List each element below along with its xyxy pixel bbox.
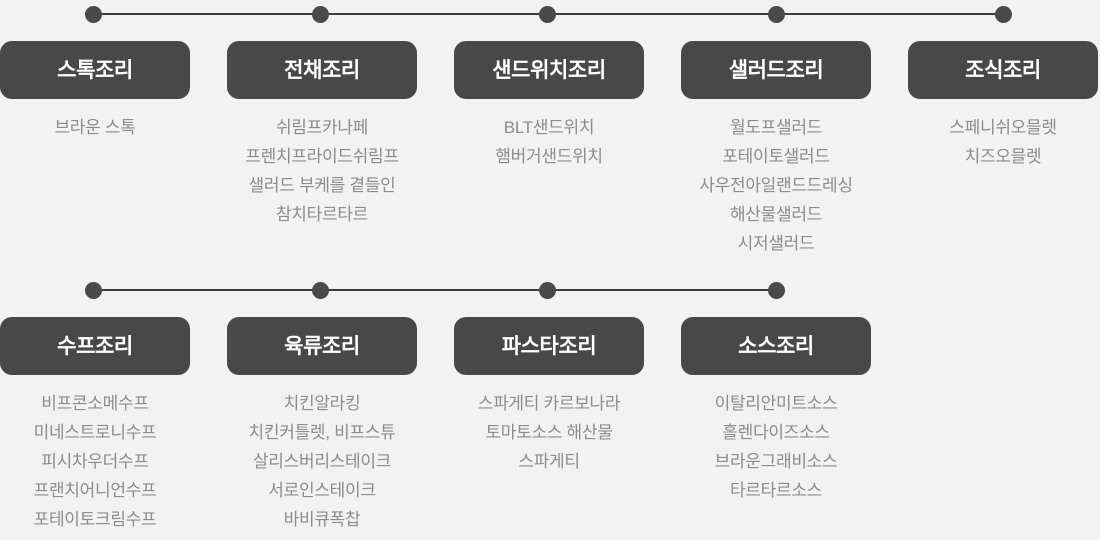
course-item: 살리스버리스테이크 [207, 447, 437, 476]
bottom-row-timeline [0, 276, 1100, 306]
course-item: 서로인스테이크 [207, 476, 437, 505]
top-row-timeline [0, 0, 1100, 30]
timeline-node-dot [768, 6, 785, 23]
course-item: 비프콘소메수프 [0, 389, 210, 418]
timeline-node-dot [312, 6, 329, 23]
course-item: 토마토소스 해산물 [434, 418, 664, 447]
course-item: 포테이토크림수프 [0, 505, 210, 534]
timeline-track [93, 289, 776, 291]
course-item: 샐러드 부케를 곁들인 [207, 171, 437, 200]
course-item: 홀렌다이즈소스 [661, 418, 891, 447]
timeline-node-dot [539, 282, 556, 299]
course-item: 참치타르타르 [207, 200, 437, 229]
timeline-node-dot [768, 282, 785, 299]
course-title-pill[interactable]: 소스조리 [681, 317, 871, 375]
course-item-list: 이탈리안미트소스홀렌다이즈소스브라운그래비소스타르타르소스 [661, 389, 891, 505]
course-item: 치킨커틀렛, 비프스튜 [207, 418, 437, 447]
timeline-track [93, 13, 1003, 15]
course-title: 수프조리 [57, 336, 133, 357]
course-title-pill[interactable]: 수프조리 [0, 317, 190, 375]
course-title: 조식조리 [965, 60, 1041, 81]
course-item: BLT샌드위치 [434, 113, 664, 142]
course-item: 이탈리안미트소스 [661, 389, 891, 418]
course-item: 프렌치프라이드쉬림프 [207, 142, 437, 171]
course-title-pill[interactable]: 샐러드조리 [681, 41, 871, 99]
course-item: 치킨알라킹 [207, 389, 437, 418]
course-item: 미네스트로니수프 [0, 418, 210, 447]
course-title: 스톡조리 [57, 60, 133, 81]
timeline-node-dot [85, 6, 102, 23]
course-title: 육류조리 [284, 336, 360, 357]
course-item: 쉬림프카나페 [207, 113, 437, 142]
course-item: 포테이토샐러드 [661, 142, 891, 171]
course-item: 피시차우더수프 [0, 447, 210, 476]
course-item: 치즈오믈렛 [888, 142, 1100, 171]
course-item: 브라운 스톡 [0, 113, 210, 142]
course-item: 햄버거샌드위치 [434, 142, 664, 171]
course-title: 전채조리 [284, 60, 360, 81]
course-item: 바비큐폭찹 [207, 505, 437, 534]
course-title-pill[interactable]: 샌드위치조리 [454, 41, 644, 99]
timeline-node-dot [539, 6, 556, 23]
curriculum-timeline-diagram: 스톡조리브라운 스톡전채조리쉬림프카나페프렌치프라이드쉬림프샐러드 부케를 곁들… [0, 0, 1100, 540]
course-item-list: BLT샌드위치햄버거샌드위치 [434, 113, 664, 171]
course-item: 브라운그래비소스 [661, 447, 891, 476]
course-title-pill[interactable]: 스톡조리 [0, 41, 190, 99]
course-item-list: 비프콘소메수프미네스트로니수프피시차우더수프프랜치어니언수프포테이토크림수프 [0, 389, 210, 534]
course-title: 샐러드조리 [729, 60, 824, 81]
course-item: 사우전아일랜드드레싱 [661, 171, 891, 200]
timeline-node-dot [312, 282, 329, 299]
course-item-list: 월도프샐러드포테이토샐러드사우전아일랜드드레싱해산물샐러드시저샐러드 [661, 113, 891, 258]
course-title-pill[interactable]: 조식조리 [908, 41, 1098, 99]
course-title-pill[interactable]: 파스타조리 [454, 317, 644, 375]
timeline-node-dot [85, 282, 102, 299]
course-item: 시저샐러드 [661, 229, 891, 258]
course-item: 해산물샐러드 [661, 200, 891, 229]
course-title: 샌드위치조리 [492, 60, 606, 81]
course-item-list: 스파게티 카르보나라토마토소스 해산물스파게티 [434, 389, 664, 476]
course-item: 월도프샐러드 [661, 113, 891, 142]
course-item-list: 브라운 스톡 [0, 113, 210, 142]
course-item: 타르타르소스 [661, 476, 891, 505]
course-item: 스파게티 [434, 447, 664, 476]
course-title-pill[interactable]: 전채조리 [227, 41, 417, 99]
course-item: 프랜치어니언수프 [0, 476, 210, 505]
course-title: 소스조리 [738, 336, 814, 357]
course-item: 스페니쉬오믈렛 [888, 113, 1100, 142]
course-item-list: 스페니쉬오믈렛치즈오믈렛 [888, 113, 1100, 171]
course-title-pill[interactable]: 육류조리 [227, 317, 417, 375]
course-title: 파스타조리 [502, 336, 597, 357]
course-item-list: 치킨알라킹치킨커틀렛, 비프스튜살리스버리스테이크서로인스테이크바비큐폭찹 [207, 389, 437, 534]
course-item-list: 쉬림프카나페프렌치프라이드쉬림프샐러드 부케를 곁들인참치타르타르 [207, 113, 437, 229]
course-item: 스파게티 카르보나라 [434, 389, 664, 418]
timeline-node-dot [995, 6, 1012, 23]
